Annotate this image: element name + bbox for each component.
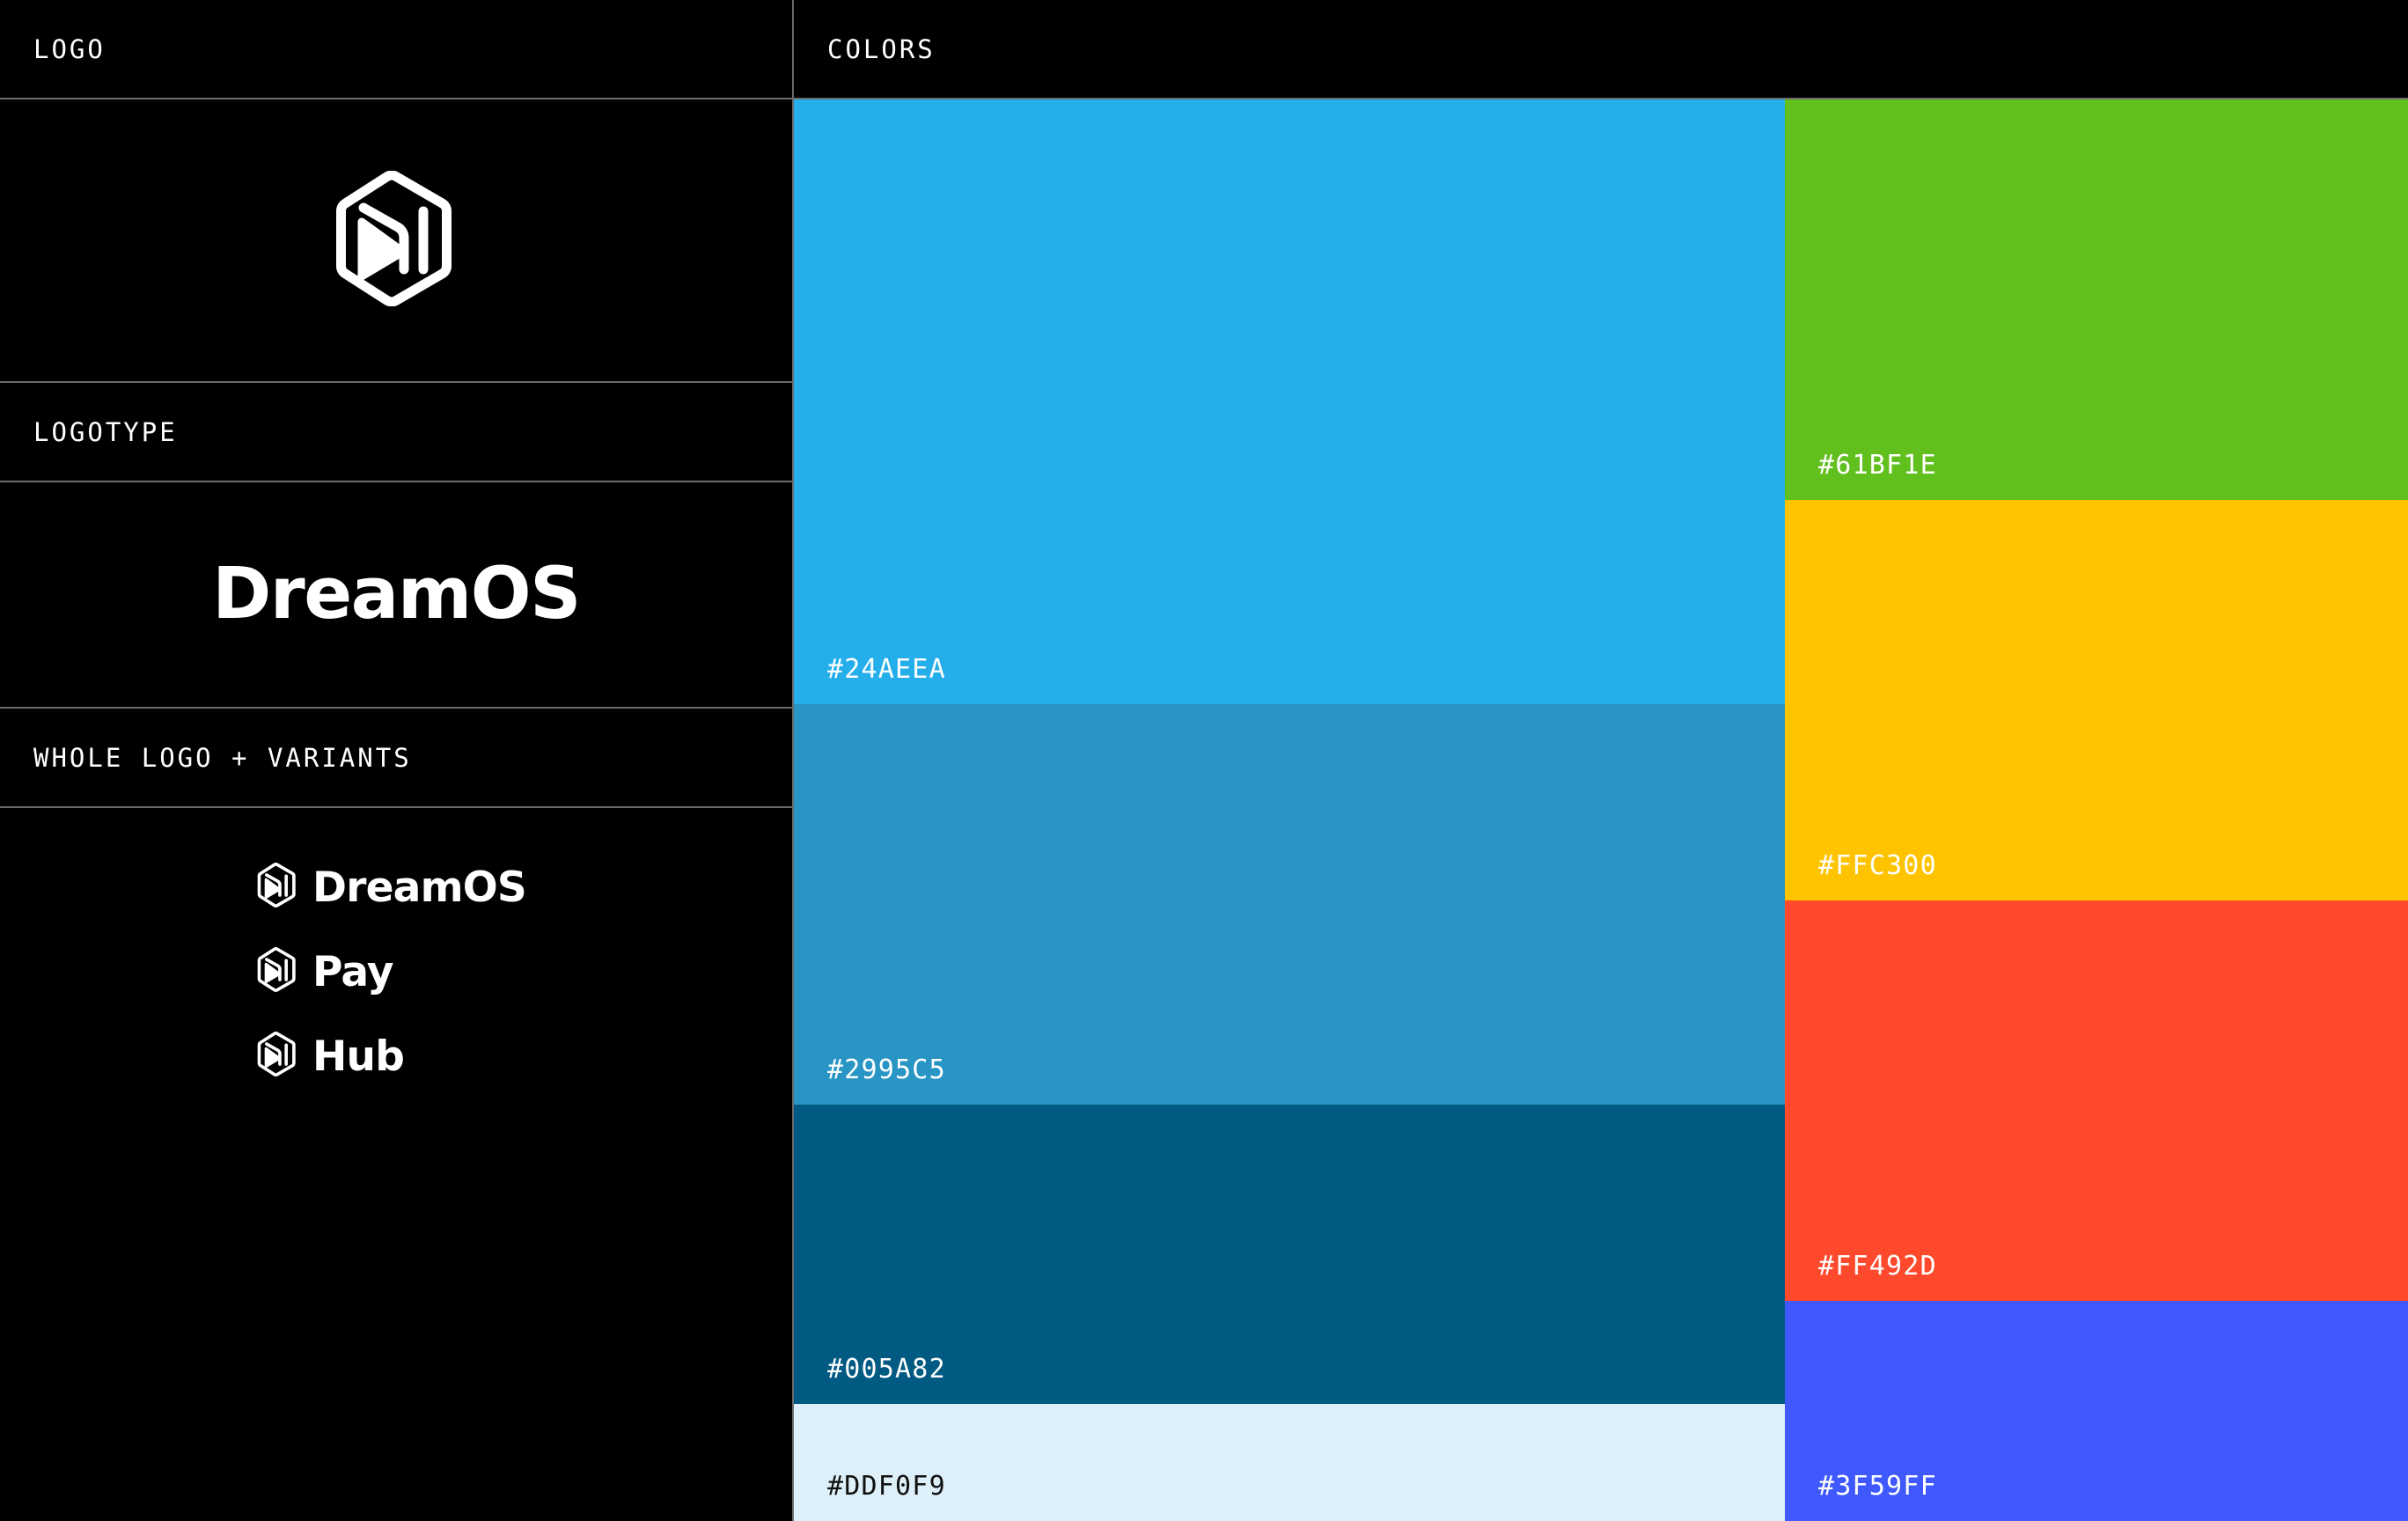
color-swatch[interactable]: #DDF0F9 [794,1404,1785,1521]
section-header-colors: COLORS [794,0,2408,99]
logo-lockup-pay: Pay [257,947,393,996]
logo-variants-list: DreamOS Pay [257,863,526,1081]
logo-mark-cell [0,99,792,383]
dreamos-hexagon-mark-icon [257,947,297,996]
color-swatch[interactable]: #FFC300 [1785,500,2408,900]
brand-style-guide-board: LOGO LOGOTYPE DreamOS [0,0,2408,1521]
section-header-logo-label: LOGO [33,34,106,64]
color-swatch[interactable]: #3F59FF [1785,1301,2408,1521]
colors-panel: COLORS #24AEEA #2995C5 #005A82 #DDF0F9 [794,0,2408,1521]
section-header-colors-label: COLORS [827,34,936,64]
color-column-primary: #24AEEA #2995C5 #005A82 #DDF0F9 [794,99,1785,1521]
logo-variants-cell: DreamOS Pay [0,808,792,1521]
logotype-cell: DreamOS [0,482,792,709]
logotype-wordmark: DreamOS [212,559,580,630]
logo-lockup-label: Hub [312,1036,404,1077]
section-header-logotype-label: LOGOTYPE [33,417,178,447]
logo-lockup-label: Pay [312,952,393,993]
dreamos-hexagon-mark-icon [257,1032,297,1081]
color-swatch[interactable]: #61BF1E [1785,99,2408,500]
color-swatch[interactable]: #FF492D [1785,900,2408,1301]
logo-panel: LOGO LOGOTYPE DreamOS [0,0,794,1521]
color-swatch-hex-label: #61BF1E [1818,452,1937,479]
logo-lockup-label: DreamOS [312,867,526,908]
color-swatch[interactable]: #24AEEA [794,99,1785,704]
logo-lockup-dreamos: DreamOS [257,863,526,912]
color-swatch-hex-label: #FFC300 [1818,853,1937,879]
dreamos-hexagon-mark-icon [334,171,458,311]
section-header-variants: WHOLE LOGO + VARIANTS [0,709,792,808]
section-header-variants-label: WHOLE LOGO + VARIANTS [33,743,412,773]
color-swatch-hex-label: #FF492D [1818,1253,1937,1280]
dreamos-hexagon-mark-icon [257,863,297,912]
color-swatch-hex-label: #2995C5 [827,1057,946,1084]
color-swatch-grid: #24AEEA #2995C5 #005A82 #DDF0F9 #61BF1E … [794,99,2408,1521]
section-header-logotype: LOGOTYPE [0,383,792,482]
color-column-accent: #61BF1E #FFC300 #FF492D #3F59FF [1785,99,2408,1521]
color-swatch-hex-label: #DDF0F9 [827,1473,946,1500]
color-swatch-hex-label: #24AEEA [827,657,946,683]
color-swatch-hex-label: #3F59FF [1818,1473,1937,1500]
logo-lockup-hub: Hub [257,1032,404,1081]
color-swatch[interactable]: #005A82 [794,1105,1785,1404]
section-header-logo: LOGO [0,0,792,99]
color-swatch[interactable]: #2995C5 [794,704,1785,1105]
color-swatch-hex-label: #005A82 [827,1356,946,1383]
